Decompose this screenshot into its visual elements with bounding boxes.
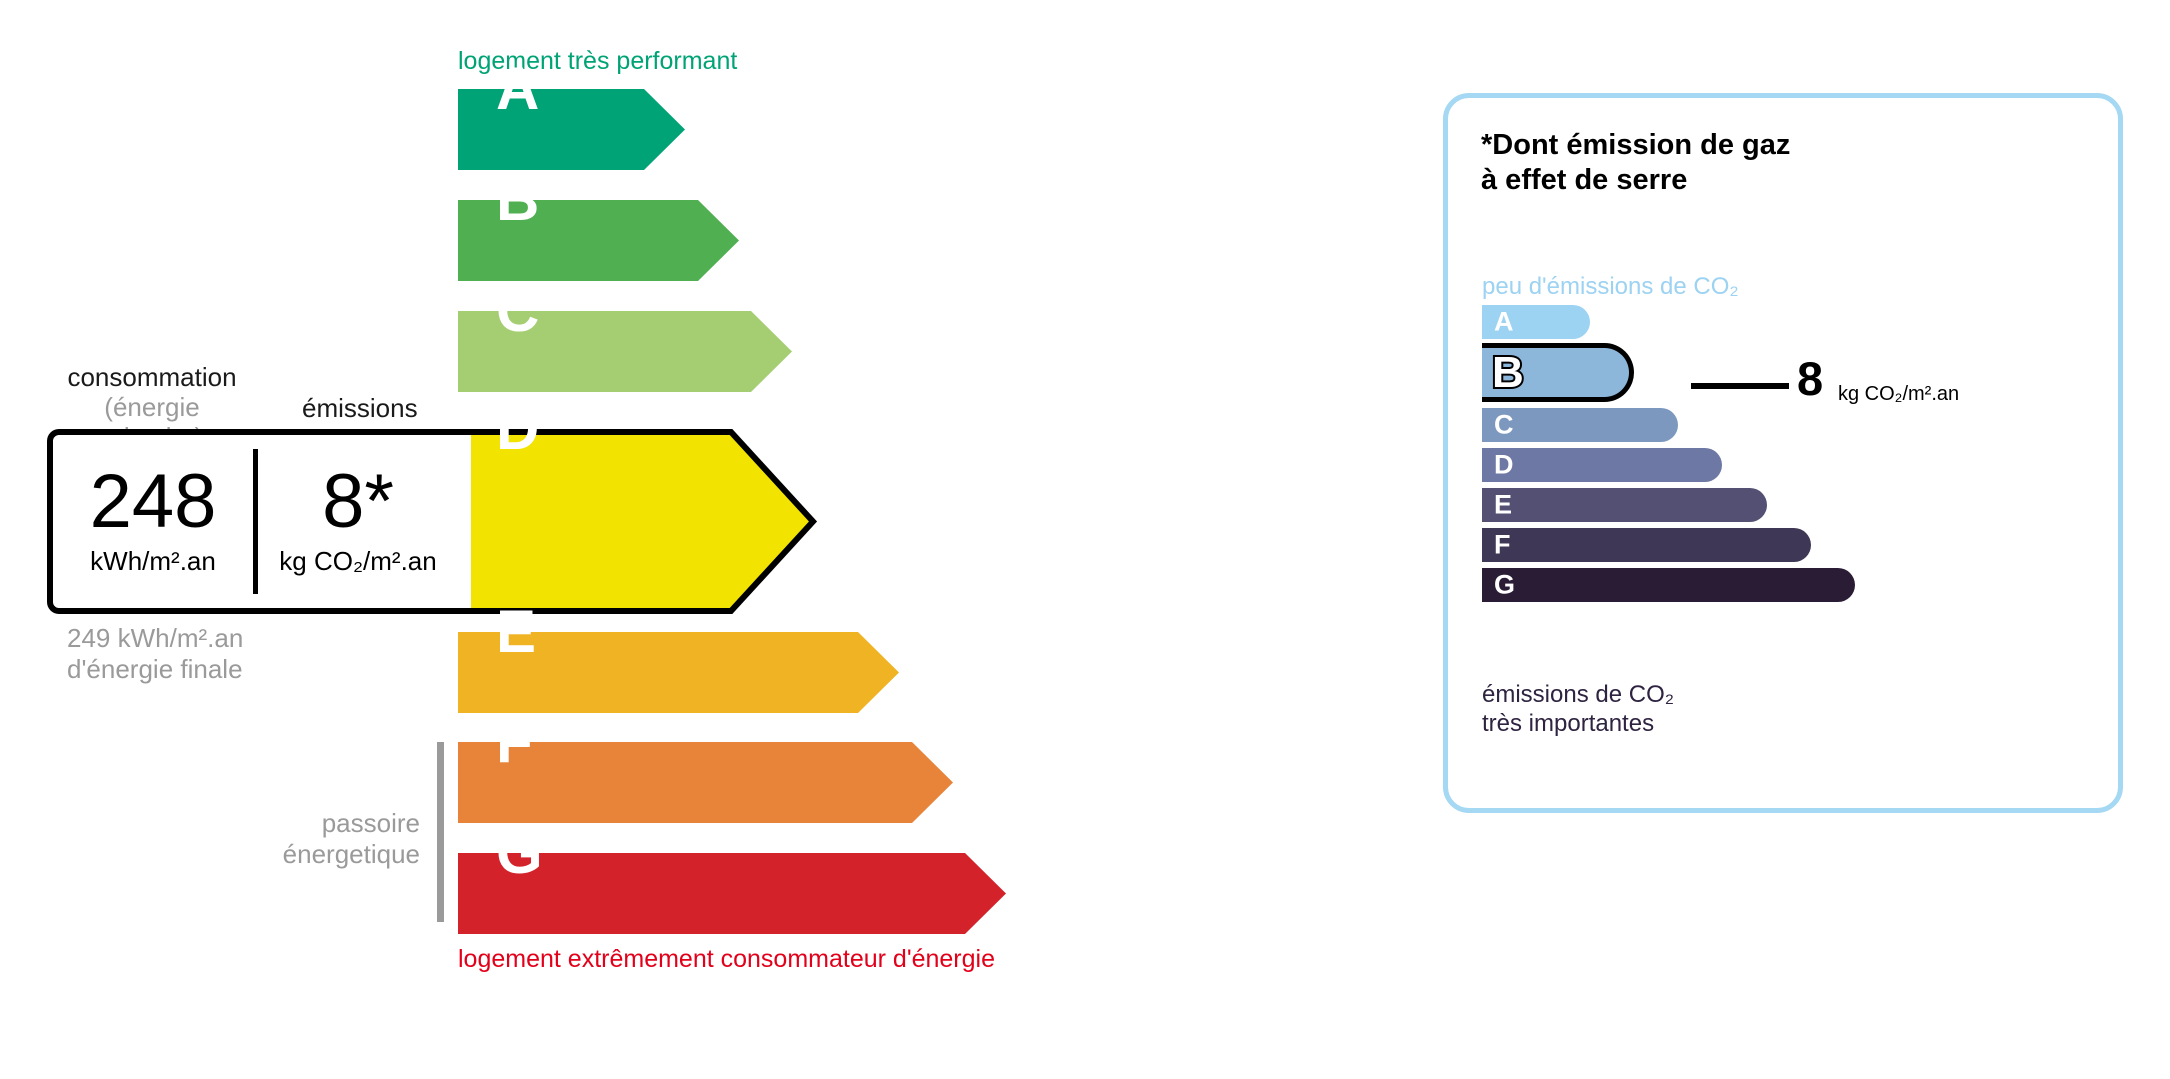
co2-top-caption: peu d'émissions de CO₂ [1482, 273, 1739, 301]
energy-arrow-b [458, 200, 739, 281]
passoire-energetique-label: passoire énergetique [180, 808, 420, 870]
measured-values-box: 248 kWh/m².an 8* kg CO₂/m².an [47, 429, 471, 614]
consumption-value: 248 [90, 466, 217, 538]
co2-class-letter-g: G [1494, 572, 1515, 599]
passoire-energetique-marker-bar [437, 742, 444, 922]
co2-class-letter-f: F [1494, 532, 1511, 559]
consumption-value-cell: 248 kWh/m².an [53, 435, 253, 608]
passoire-label-line1: passoire [180, 808, 420, 839]
co2-bottom-caption: émissions de CO₂ très importantes [1482, 681, 1674, 739]
consumption-unit: kWh/m².an [90, 546, 216, 577]
co2-emissions-panel: *Dont émission de gaz à effet de serre p… [1443, 93, 2123, 813]
co2-bar-chart: A B C D E F G [1482, 305, 1855, 608]
final-energy-note: 249 kWh/m².an d'énergie finale [67, 623, 243, 685]
energy-arrow-d-selected [458, 429, 818, 614]
diagram-top-caption: logement très performant [458, 47, 737, 76]
co2-bar-d[interactable]: D [1482, 448, 1722, 482]
energy-arrow-a [458, 89, 685, 170]
co2-class-letter-d: D [1494, 452, 1514, 479]
co2-measured-value: 8 [1797, 355, 1823, 402]
co2-bottom-caption-line2: très importantes [1482, 710, 1674, 739]
co2-class-letter-b: B [1492, 351, 1524, 395]
co2-panel-title: *Dont émission de gaz à effet de serre [1481, 128, 1790, 199]
co2-bar-f[interactable]: F [1482, 528, 1811, 562]
emission-value: 8* [322, 466, 394, 538]
co2-class-letter-e: E [1494, 492, 1512, 519]
passoire-label-line2: énergetique [180, 839, 420, 870]
energy-performance-diagram: logement très performant A B C [0, 0, 1400, 1079]
co2-class-letter-c: C [1494, 412, 1514, 439]
diagram-bottom-caption: logement extrêmement consommateur d'éner… [458, 945, 995, 974]
energy-arrow-c [458, 311, 792, 392]
co2-measured-unit: kg CO₂/m².an [1838, 383, 1959, 406]
co2-bar-c[interactable]: C [1482, 408, 1678, 442]
co2-class-letter-a: A [1494, 309, 1514, 336]
emissions-label: émissions [302, 393, 418, 424]
co2-title-line1: *Dont émission de gaz [1481, 128, 1790, 163]
emission-value-cell: 8* kg CO₂/m².an [258, 435, 458, 608]
co2-value-leader-line [1691, 383, 1789, 389]
co2-bar-a[interactable]: A [1482, 305, 1590, 339]
co2-bar-e[interactable]: E [1482, 488, 1767, 522]
energy-arrow-g [458, 853, 1006, 934]
energy-arrow-f [458, 742, 953, 823]
emission-unit: kg CO₂/m².an [279, 546, 436, 577]
energy-arrow-e [458, 632, 899, 713]
final-energy-line2: d'énergie finale [67, 654, 243, 685]
consommation-label-main: consommation [52, 363, 252, 393]
co2-bottom-caption-line1: émissions de CO₂ [1482, 681, 1674, 710]
final-energy-line1: 249 kWh/m².an [67, 623, 243, 654]
co2-title-line2: à effet de serre [1481, 163, 1790, 198]
co2-bar-g[interactable]: G [1482, 568, 1855, 602]
co2-bar-b-selected[interactable]: B [1482, 343, 1634, 402]
